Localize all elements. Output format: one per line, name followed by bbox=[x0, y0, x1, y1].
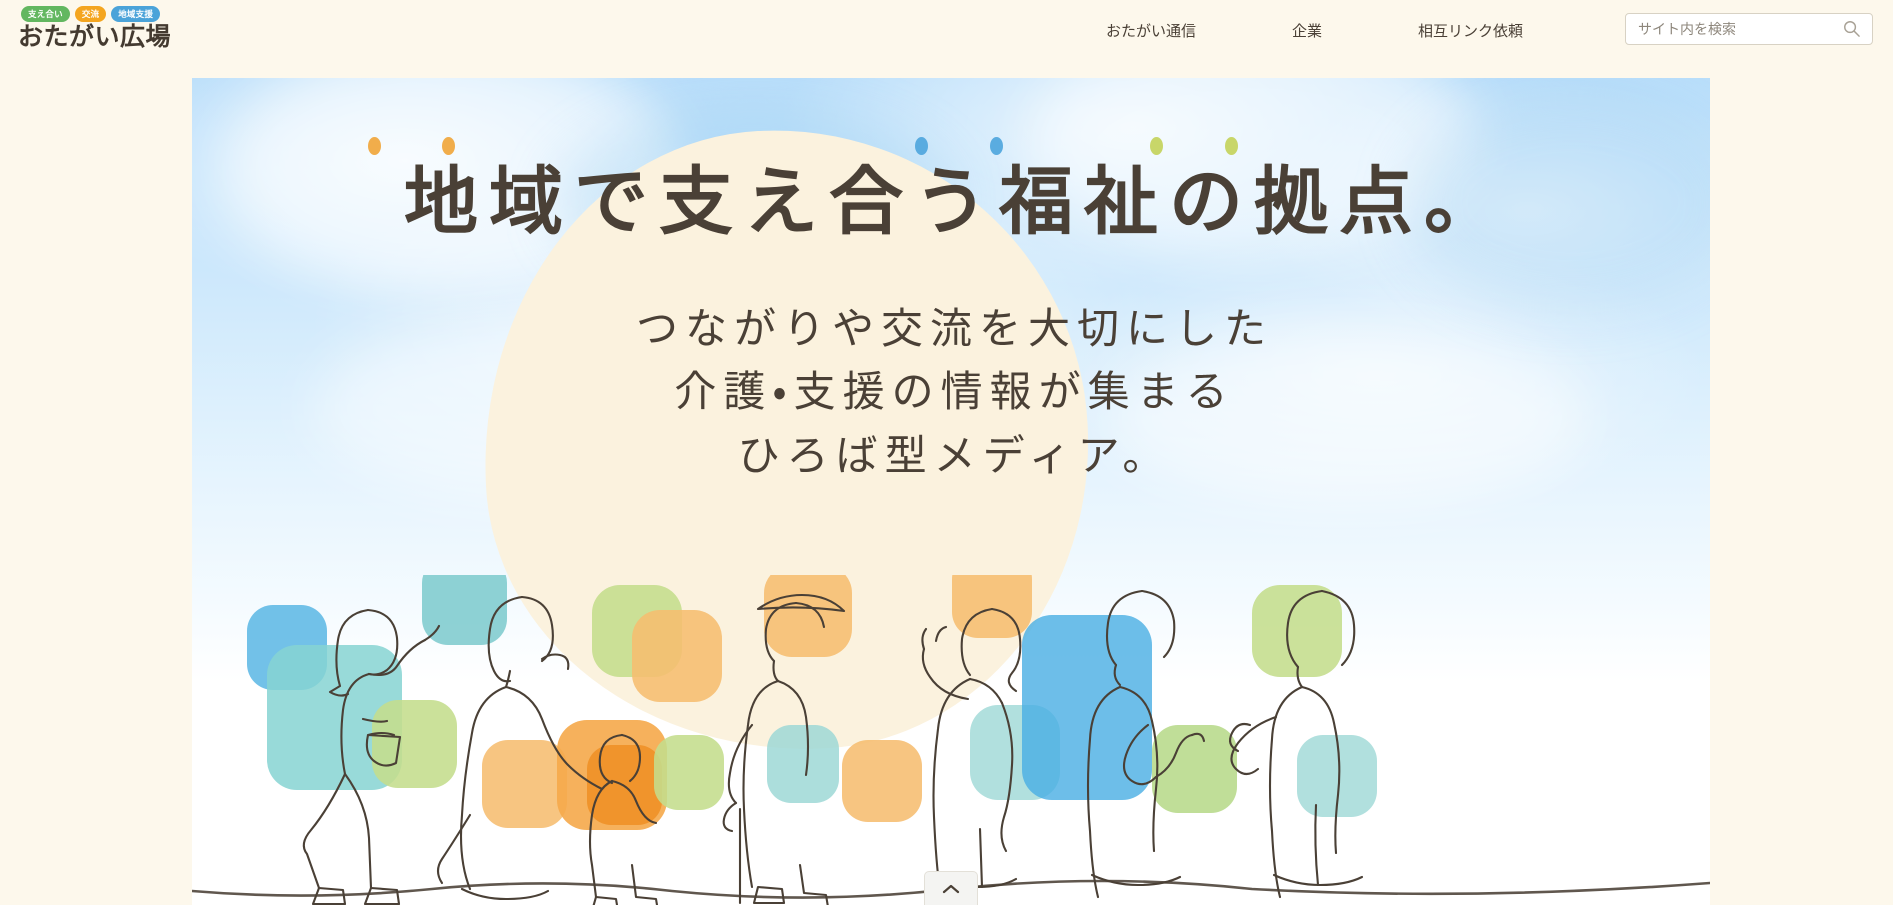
decorative-dot bbox=[442, 137, 455, 155]
badge-support: 支え合い bbox=[21, 6, 70, 22]
main-navigation: おたがい通信 企業 相互リンク依頼 bbox=[1104, 20, 1525, 43]
hero-title: 地域で支え合う福祉の拠点。 bbox=[192, 156, 1710, 249]
hero-section: 地域で支え合う福祉の拠点。 つながりや交流を大切にした 介護・支援の情報が集まる… bbox=[192, 78, 1710, 905]
chevron-up-icon bbox=[942, 883, 960, 895]
decorative-dot bbox=[368, 137, 381, 155]
nav-item-link-request[interactable]: 相互リンク依頼 bbox=[1416, 20, 1525, 43]
hero-subtitle-line-3: ひろば型メディア。 bbox=[192, 424, 1710, 488]
decorative-dot bbox=[1150, 137, 1163, 155]
nav-item-otagai-tsushin[interactable]: おたがい通信 bbox=[1104, 20, 1198, 43]
hero-copy: 地域で支え合う福祉の拠点。 つながりや交流を大切にした 介護・支援の情報が集まる… bbox=[192, 156, 1710, 488]
community-people-line-art-illustration bbox=[192, 575, 1710, 905]
brand-logo[interactable]: 支え合い 交流 地域支援 おたがい広場 bbox=[18, 6, 278, 50]
hero-subtitle-line-1: つながりや交流を大切にした bbox=[192, 297, 1710, 361]
decorative-dot bbox=[1225, 137, 1238, 155]
search-input[interactable] bbox=[1625, 13, 1873, 45]
badge-exchange: 交流 bbox=[75, 6, 106, 22]
brand-badges: 支え合い 交流 地域支援 bbox=[18, 6, 278, 22]
decorative-dot bbox=[990, 137, 1003, 155]
scroll-to-top-button[interactable] bbox=[924, 871, 978, 905]
hero-subtitle: つながりや交流を大切にした 介護・支援の情報が集まる ひろば型メディア。 bbox=[192, 297, 1710, 488]
badge-community: 地域支援 bbox=[111, 6, 160, 22]
hero-subtitle-line-2: 介護・支援の情報が集まる bbox=[192, 360, 1710, 424]
decorative-dot bbox=[915, 137, 928, 155]
brand-name: おたがい広場 bbox=[18, 24, 278, 50]
nav-item-company[interactable]: 企業 bbox=[1290, 20, 1324, 43]
search-icon[interactable] bbox=[1842, 19, 1861, 38]
site-header: 支え合い 交流 地域支援 おたがい広場 おたがい通信 企業 相互リンク依頼 bbox=[0, 0, 1893, 78]
search-container bbox=[1625, 13, 1873, 45]
color-swatches bbox=[247, 575, 1377, 830]
